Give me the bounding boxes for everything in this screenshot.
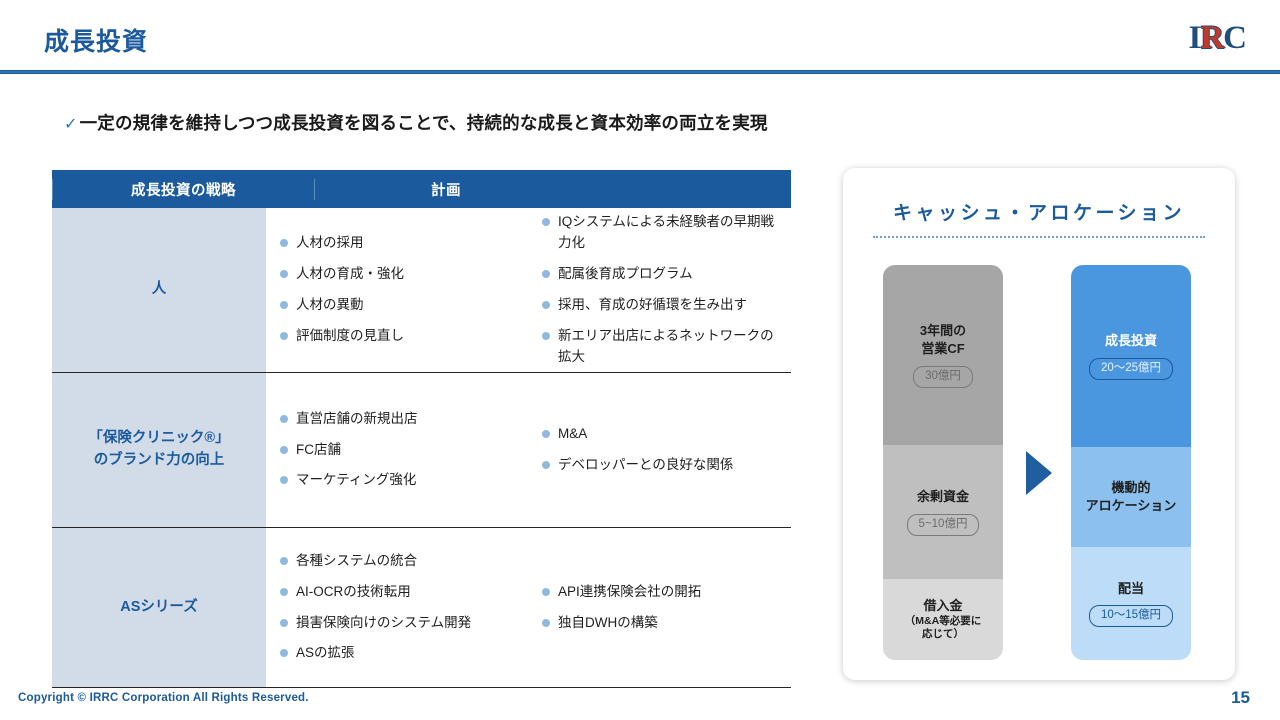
segment-flexible-allocation-line1: 機動的: [1111, 479, 1150, 497]
source-of-funds-bar: 3年間の 営業CF 30億円 余剰資金 5~10億円 借入金 （M&A等必要に …: [883, 265, 1003, 660]
segment-surplus-funds-amount: 5~10億円: [907, 514, 980, 536]
bullet-dot-icon: [542, 588, 550, 596]
list-item-text: API連携保険会社の開拓: [558, 582, 701, 603]
logo-letter-i: I: [1188, 20, 1200, 56]
use-of-funds-bar: 成長投資 20〜25億円 機動的 アロケーション 配当 10〜15億円: [1071, 265, 1191, 660]
segment-dividend-amount: 10〜15億円: [1089, 605, 1173, 627]
cash-allocation-diagram: 3年間の 営業CF 30億円 余剰資金 5~10億円 借入金 （M&A等必要に …: [843, 168, 1235, 680]
bullet-dot-icon: [280, 649, 288, 657]
list-item: 評価制度の見直し: [280, 326, 520, 347]
list-item-text: 評価制度の見直し: [296, 326, 404, 347]
list-item: 新エリア出店によるネットワークの拡大: [542, 326, 783, 368]
list-item-text: AI-OCRの技術転用: [296, 582, 411, 603]
footer-copyright: Copyright © IRRC Corporation All Rights …: [18, 692, 309, 704]
row-strategy-as-series: 各種システムの統合 AI-OCRの技術転用 損害保険向けのシステム開発 ASの拡…: [266, 528, 528, 687]
segment-operating-cf-line1: 3年間の: [920, 322, 966, 340]
list-item-text: 損害保険向けのシステム開発: [296, 613, 471, 634]
list-item: 損害保険向けのシステム開発: [280, 613, 520, 634]
list-item-text: IQシステムによる未経験者の早期戦力化: [558, 212, 783, 254]
list-item: マーケティング強化: [280, 470, 520, 491]
bullet-dot-icon: [542, 332, 550, 340]
list-item-text: 各種システムの統合: [296, 551, 417, 572]
header-divider: [0, 70, 1280, 74]
bullet-dot-icon: [542, 270, 550, 278]
bullet-dot-icon: [280, 476, 288, 484]
irc-logo: IRC: [1188, 22, 1246, 55]
list-item: API連携保険会社の開拓: [542, 582, 783, 603]
list-item: M&A: [542, 424, 783, 445]
segment-borrowings-label: 借入金: [923, 597, 962, 615]
row-strategy-people: 人材の採用 人材の育成・強化 人材の異動 評価制度の見直し: [266, 208, 528, 372]
right-triangle-arrow-icon: [1026, 451, 1052, 495]
bullet-dot-icon: [542, 430, 550, 438]
list-item: 採用、育成の好循環を生み出す: [542, 295, 783, 316]
row-label-people: 人: [52, 208, 266, 372]
list-item: AI-OCRの技術転用: [280, 582, 520, 603]
list-item-text: 人材の採用: [296, 233, 364, 254]
segment-flexible-allocation-line2: アロケーション: [1086, 497, 1177, 515]
row-label-brand: 「保険クリニック®」 のブランド力の向上: [52, 373, 266, 527]
list-item: デベロッパーとの良好な関係: [542, 455, 783, 476]
table-header-strategy: 成長投資の戦略: [52, 179, 314, 200]
bullet-dot-icon: [280, 332, 288, 340]
bullet-dot-icon: [280, 588, 288, 596]
bullet-dot-icon: [542, 218, 550, 226]
table-row: 人 人材の採用 人材の育成・強化 人材の異動 評価制度の見直し IQシステムによ…: [52, 208, 791, 373]
segment-growth-investment-label: 成長投資: [1105, 332, 1157, 350]
bullet-dot-icon: [542, 301, 550, 309]
list-item: 独自DWHの構築: [542, 613, 783, 634]
row-plan-brand: M&A デベロッパーとの良好な関係: [528, 373, 791, 527]
table-row: ASシリーズ 各種システムの統合 AI-OCRの技術転用 損害保険向けのシステム…: [52, 528, 791, 688]
list-item-text: M&A: [558, 424, 587, 445]
list-item: ASの拡張: [280, 643, 520, 664]
logo-letter-c: C: [1223, 20, 1246, 56]
bullet-dot-icon: [280, 619, 288, 627]
list-item: 人材の採用: [280, 233, 520, 254]
logo-letter-r: R: [1200, 20, 1223, 56]
list-item-text: 直営店舗の新規出店: [296, 409, 418, 430]
check-icon: ✓: [64, 116, 78, 133]
list-item-text: 人材の異動: [296, 295, 364, 316]
page-number: 15: [1231, 688, 1250, 708]
row-label-brand-line1: 「保険クリニック®」: [88, 428, 229, 450]
list-item-text: デベロッパーとの良好な関係: [558, 455, 733, 476]
list-item-text: 新エリア出店によるネットワークの拡大: [558, 326, 783, 368]
list-item-text: 採用、育成の好循環を生み出す: [558, 295, 747, 316]
bullet-dot-icon: [280, 446, 288, 454]
segment-borrowings-sub-line2: 応じて）: [922, 628, 964, 642]
row-label-as-series: ASシリーズ: [52, 528, 266, 687]
list-item: 直営店舗の新規出店: [280, 409, 520, 430]
growth-investment-table: 成長投資の戦略 計画 人 人材の採用 人材の育成・強化 人材の異動 評価制度の見…: [52, 170, 791, 688]
list-item-text: 配属後育成プログラム: [558, 264, 693, 285]
segment-operating-cf: 3年間の 営業CF 30億円: [883, 265, 1003, 445]
list-item-text: FC店舗: [296, 440, 341, 461]
table-row: 「保険クリニック®」 のブランド力の向上 直営店舗の新規出店 FC店舗 マーケテ…: [52, 373, 791, 528]
row-plan-as-series: API連携保険会社の開拓 独自DWHの構築: [528, 528, 791, 687]
bullet-dot-icon: [280, 415, 288, 423]
segment-operating-cf-line2: 営業CF: [921, 340, 964, 358]
table-header-row: 成長投資の戦略 計画: [52, 170, 791, 208]
segment-surplus-funds-label: 余剰資金: [917, 488, 969, 506]
cash-allocation-card: キャッシュ・アロケーション 3年間の 営業CF 30億円 余剰資金 5~10億円…: [843, 168, 1235, 680]
row-plan-people: IQシステムによる未経験者の早期戦力化 配属後育成プログラム 採用、育成の好循環…: [528, 208, 791, 372]
segment-borrowings-sub-line1: （M&A等必要に: [905, 615, 981, 629]
bullet-dot-icon: [280, 270, 288, 278]
segment-surplus-funds: 余剰資金 5~10億円: [883, 445, 1003, 579]
list-item-text: 人材の育成・強化: [296, 264, 404, 285]
list-item-text: 独自DWHの構築: [558, 613, 658, 634]
row-strategy-brand: 直営店舗の新規出店 FC店舗 マーケティング強化: [266, 373, 528, 527]
list-item-text: マーケティング強化: [296, 470, 416, 491]
table-header-plan: 計画: [314, 179, 577, 200]
list-item: 人材の育成・強化: [280, 264, 520, 285]
page-title: 成長投資: [44, 22, 148, 58]
list-item-text: ASの拡張: [296, 643, 355, 664]
segment-growth-investment-amount: 20〜25億円: [1089, 358, 1173, 380]
slide: 成長投資 IRC ✓一定の規律を維持しつつ成長投資を図ることで、持続的な成長と資…: [0, 0, 1280, 720]
list-item: IQシステムによる未経験者の早期戦力化: [542, 212, 783, 254]
list-item: 人材の異動: [280, 295, 520, 316]
bullet-dot-icon: [280, 301, 288, 309]
list-item: 各種システムの統合: [280, 551, 520, 572]
list-item: FC店舗: [280, 440, 520, 461]
segment-dividend: 配当 10〜15億円: [1071, 547, 1191, 660]
list-item: 配属後育成プログラム: [542, 264, 783, 285]
bullet-dot-icon: [280, 239, 288, 247]
bullet-dot-icon: [280, 557, 288, 565]
segment-operating-cf-amount: 30億円: [913, 366, 973, 388]
lead-statement: ✓一定の規律を維持しつつ成長投資を図ることで、持続的な成長と資本効率の両立を実現: [64, 110, 768, 135]
segment-growth-investment: 成長投資 20〜25億円: [1071, 265, 1191, 447]
segment-flexible-allocation: 機動的 アロケーション: [1071, 447, 1191, 547]
segment-borrowings: 借入金 （M&A等必要に 応じて）: [883, 579, 1003, 660]
bullet-dot-icon: [542, 461, 550, 469]
row-label-brand-line2: のブランド力の向上: [88, 450, 229, 472]
bullet-dot-icon: [542, 619, 550, 627]
lead-text: 一定の規律を維持しつつ成長投資を図ることで、持続的な成長と資本効率の両立を実現: [80, 113, 768, 133]
segment-dividend-label: 配当: [1118, 580, 1144, 598]
